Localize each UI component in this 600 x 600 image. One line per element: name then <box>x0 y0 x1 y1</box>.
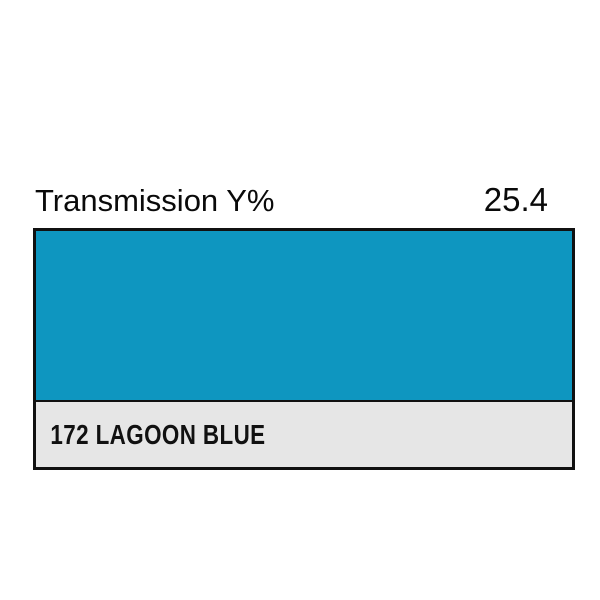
color-name-band: 172 LAGOON BLUE <box>36 400 572 467</box>
swatch-box: 172 LAGOON BLUE <box>33 228 575 470</box>
color-name-label: 172 LAGOON BLUE <box>36 420 266 450</box>
transmission-label: Transmission Y% <box>35 184 274 218</box>
color-swatch-card: Transmission Y% 25.4 172 LAGOON BLUE <box>0 0 600 600</box>
transmission-header-row: Transmission Y% 25.4 <box>35 183 548 223</box>
color-field-lagoon-blue <box>36 231 572 400</box>
transmission-value: 25.4 <box>484 183 548 217</box>
